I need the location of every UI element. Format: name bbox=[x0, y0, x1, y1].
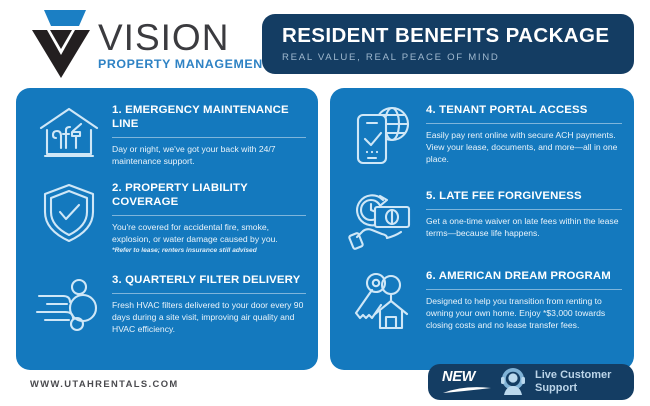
benefits-card-left: 1. EMERGENCY MAINTENANCE LINE Day or nig… bbox=[16, 88, 318, 370]
benefit-heading-2: 2. PROPERTY LIABILITY COVERAGE bbox=[112, 182, 306, 210]
divider bbox=[112, 293, 306, 294]
benefit-item-6: 6. AMERICAN DREAM PROGRAM Designed to he… bbox=[330, 264, 634, 334]
benefit-body-1: Day or night, we've got your back with 2… bbox=[112, 143, 306, 167]
benefits-card-right: 4. TENANT PORTAL ACCESS Easily pay rent … bbox=[330, 88, 634, 370]
benefit-item-2: 2. PROPERTY LIABILITY COVERAGE You're co… bbox=[16, 176, 318, 256]
keys-house-icon bbox=[340, 264, 426, 334]
divider bbox=[112, 137, 306, 138]
hand-money-clock-icon bbox=[340, 184, 426, 250]
divider bbox=[426, 123, 622, 124]
support-label-line2: Support bbox=[535, 382, 611, 395]
benefit-text-2: 2. PROPERTY LIABILITY COVERAGE You're co… bbox=[112, 176, 306, 256]
page-header: VISION PROPERTY MANAGEMENT RESIDENT BENE… bbox=[0, 0, 650, 88]
benefit-item-1: 1. EMERGENCY MAINTENANCE LINE Day or nig… bbox=[16, 98, 318, 167]
page-title: RESIDENT BENEFITS PACKAGE bbox=[282, 25, 634, 48]
benefit-text-5: 5. LATE FEE FORGIVENESS Get a one-time w… bbox=[426, 184, 622, 239]
benefit-item-5: 5. LATE FEE FORGIVENESS Get a one-time w… bbox=[330, 184, 634, 250]
headset-support-icon bbox=[498, 367, 528, 397]
benefit-body-2: You're covered for accidental fire, smok… bbox=[112, 221, 306, 245]
benefit-note-2: *Refer to lease; renters insurance still… bbox=[112, 247, 306, 256]
benefit-heading-5: 5. LATE FEE FORGIVENESS bbox=[426, 190, 622, 204]
support-label: Live Customer Support bbox=[535, 369, 611, 395]
support-label-line1: Live Customer bbox=[535, 369, 611, 382]
brand-tagline: PROPERTY MANAGEMENT bbox=[98, 58, 271, 70]
benefit-body-5: Get a one-time waiver on late fees withi… bbox=[426, 215, 622, 239]
live-support-badge[interactable]: NEW Live Customer Support bbox=[428, 364, 634, 400]
new-flag: NEW bbox=[442, 370, 496, 394]
title-banner: RESIDENT BENEFITS PACKAGE REAL VALUE, RE… bbox=[262, 14, 634, 74]
website-url[interactable]: WWW.UTAHRENTALS.COM bbox=[30, 378, 179, 389]
benefit-item-4: 4. TENANT PORTAL ACCESS Easily pay rent … bbox=[330, 98, 634, 168]
benefit-heading-6: 6. AMERICAN DREAM PROGRAM bbox=[426, 270, 622, 284]
divider bbox=[112, 215, 306, 216]
benefit-body-4: Easily pay rent online with secure ACH p… bbox=[426, 129, 622, 166]
page-subtitle: REAL VALUE, REAL PEACE OF MIND bbox=[282, 52, 634, 63]
swoosh-underline-icon bbox=[442, 386, 492, 394]
divider bbox=[426, 289, 622, 290]
benefit-heading-1: 1. EMERGENCY MAINTENANCE LINE bbox=[112, 104, 306, 132]
airflow-filter-icon bbox=[26, 268, 112, 334]
benefit-text-3: 3. QUARTERLY FILTER DELIVERY Fresh HVAC … bbox=[112, 268, 306, 336]
shield-check-icon bbox=[26, 176, 112, 244]
brand-wordmark: VISION PROPERTY MANAGEMENT bbox=[98, 8, 271, 70]
benefit-text-6: 6. AMERICAN DREAM PROGRAM Designed to he… bbox=[426, 264, 622, 332]
benefit-body-6: Designed to help you transition from ren… bbox=[426, 295, 622, 332]
benefit-heading-4: 4. TENANT PORTAL ACCESS bbox=[426, 104, 622, 118]
house-tools-icon bbox=[26, 98, 112, 162]
benefit-heading-3: 3. QUARTERLY FILTER DELIVERY bbox=[112, 274, 306, 288]
phone-globe-icon bbox=[340, 98, 426, 168]
benefit-text-4: 4. TENANT PORTAL ACCESS Easily pay rent … bbox=[426, 98, 622, 166]
benefit-item-3: 3. QUARTERLY FILTER DELIVERY Fresh HVAC … bbox=[16, 268, 318, 336]
brand-logo: VISION PROPERTY MANAGEMENT bbox=[30, 8, 271, 78]
vision-v-logo-icon bbox=[30, 8, 92, 78]
brand-name: VISION bbox=[98, 20, 271, 56]
divider bbox=[426, 209, 622, 210]
benefit-text-1: 1. EMERGENCY MAINTENANCE LINE Day or nig… bbox=[112, 98, 306, 167]
benefit-body-3: Fresh HVAC filters delivered to your doo… bbox=[112, 299, 306, 336]
new-label: NEW bbox=[442, 370, 496, 385]
